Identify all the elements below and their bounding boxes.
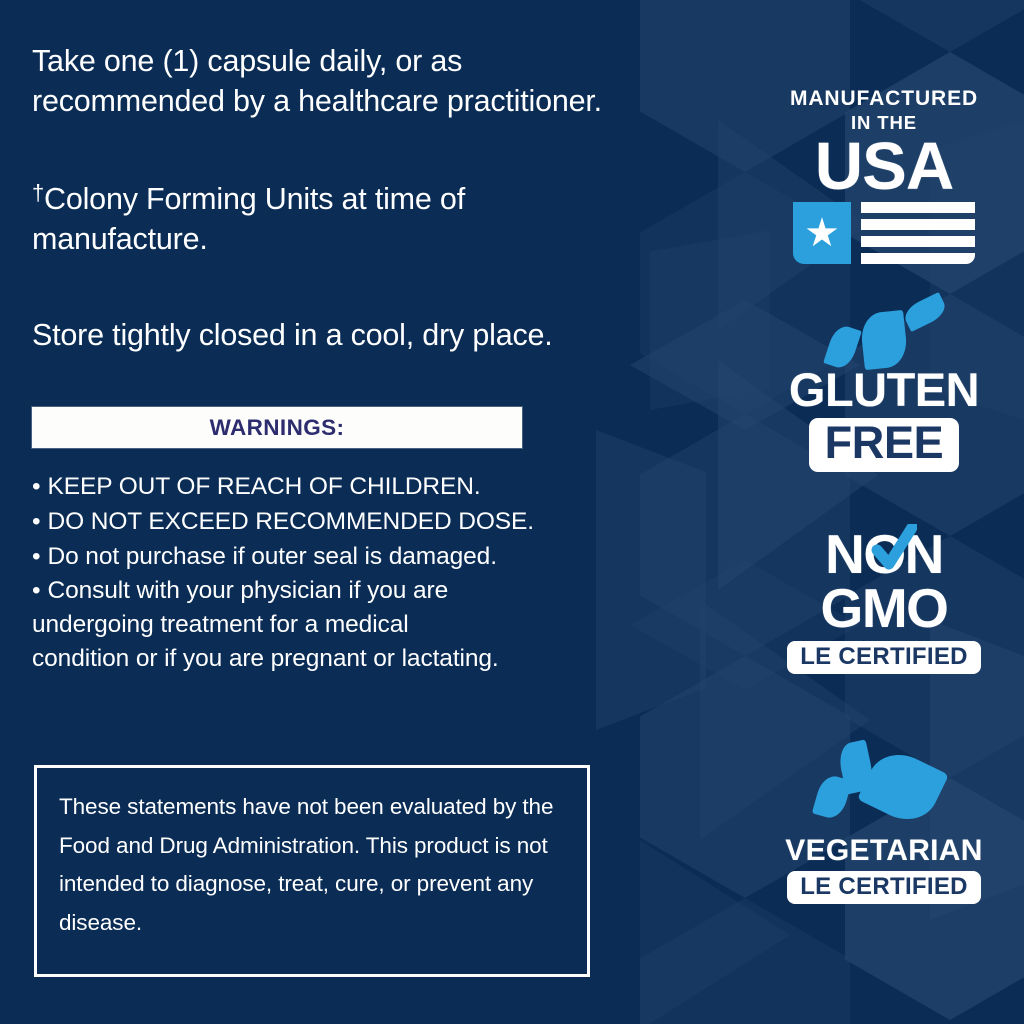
warning-item: •KEEP OUT OF REACH OF CHILDREN. (32, 470, 632, 504)
badge-vegetarian: VEGETARIAN LE CERTIFIED (760, 742, 1008, 904)
usa-flag-icon (793, 202, 975, 264)
grain-kernel (859, 310, 909, 370)
flag-stripe (861, 202, 975, 213)
grain-kernel (901, 292, 949, 332)
cfu-footnote-text: †Colony Forming Units at time of manufac… (32, 180, 632, 259)
bullet-icon: • (32, 577, 40, 604)
directions-and-warnings-column: Take one (1) capsule daily, or as recomm… (32, 0, 652, 1024)
warning-item-text: Consult with your physician if you are u… (32, 577, 499, 672)
warning-item-text: Do not purchase if outer seal is damaged… (47, 543, 496, 570)
badge-non-gmo: NON GMO LE CERTIFIED (760, 528, 1008, 674)
bullet-icon: • (32, 508, 40, 535)
fda-disclaimer-text: These statements have not been evaluated… (59, 788, 571, 943)
gluten-free-pill: FREE (809, 418, 960, 472)
non-gmo-certification-pill: LE CERTIFIED (787, 641, 981, 674)
vegetarian-label: VEGETARIAN (760, 836, 1008, 866)
leaf-sprout-icon (809, 742, 959, 828)
gluten-free-line2: FREE (825, 417, 944, 468)
supplement-label-panel: Take one (1) capsule daily, or as recomm… (0, 0, 1024, 1024)
non-gmo-word-row: NON (825, 528, 943, 582)
bullet-icon: • (32, 543, 40, 570)
bullet-icon: • (32, 473, 40, 500)
warning-item: •Consult with your physician if you are … (32, 574, 632, 675)
flag-stripe (861, 236, 975, 247)
warning-item-text: KEEP OUT OF REACH OF CHILDREN. (47, 473, 480, 500)
wheat-grain-icon (819, 296, 949, 362)
warning-item-text: DO NOT EXCEED RECOMMENDED DOSE. (47, 508, 534, 535)
badge-gluten-free: GLUTEN FREE (760, 296, 1008, 472)
warnings-heading-label: WARNINGS: (210, 415, 345, 441)
certification-badge-column: MANUFACTURED IN THE USA GLUTEN (760, 0, 1008, 1024)
flag-stripe (861, 253, 975, 264)
badge-manufactured-in-usa: MANUFACTURED IN THE USA (760, 88, 1008, 264)
warning-item: •DO NOT EXCEED RECOMMENDED DOSE. (32, 505, 632, 539)
fda-disclaimer-box: These statements have not been evaluated… (34, 765, 590, 977)
non-gmo-line1: NON (825, 528, 943, 582)
vegetarian-certification-pill: LE CERTIFIED (787, 871, 981, 904)
dosage-directions-text: Take one (1) capsule daily, or as recomm… (32, 42, 738, 121)
flag-stripes (861, 202, 975, 264)
flag-stripe (861, 219, 975, 230)
leaf-shape (857, 743, 949, 830)
dagger-symbol: † (32, 180, 44, 205)
usa-badge-line3: USA (760, 135, 1008, 199)
warnings-heading-bar: WARNINGS: (32, 407, 522, 448)
cfu-footnote-body: Colony Forming Units at time of manufact… (32, 182, 465, 256)
non-gmo-certification-label: LE CERTIFIED (800, 643, 968, 670)
storage-instructions-text: Store tightly closed in a cool, dry plac… (32, 316, 692, 356)
warnings-list: •KEEP OUT OF REACH OF CHILDREN. •DO NOT … (32, 470, 632, 677)
vegetarian-certification-label: LE CERTIFIED (800, 873, 968, 900)
non-gmo-line2: GMO (760, 582, 1008, 636)
usa-badge-line1: MANUFACTURED (760, 88, 1008, 109)
gluten-free-line1: GLUTEN (760, 366, 1008, 414)
warning-item: •Do not purchase if outer seal is damage… (32, 540, 632, 574)
